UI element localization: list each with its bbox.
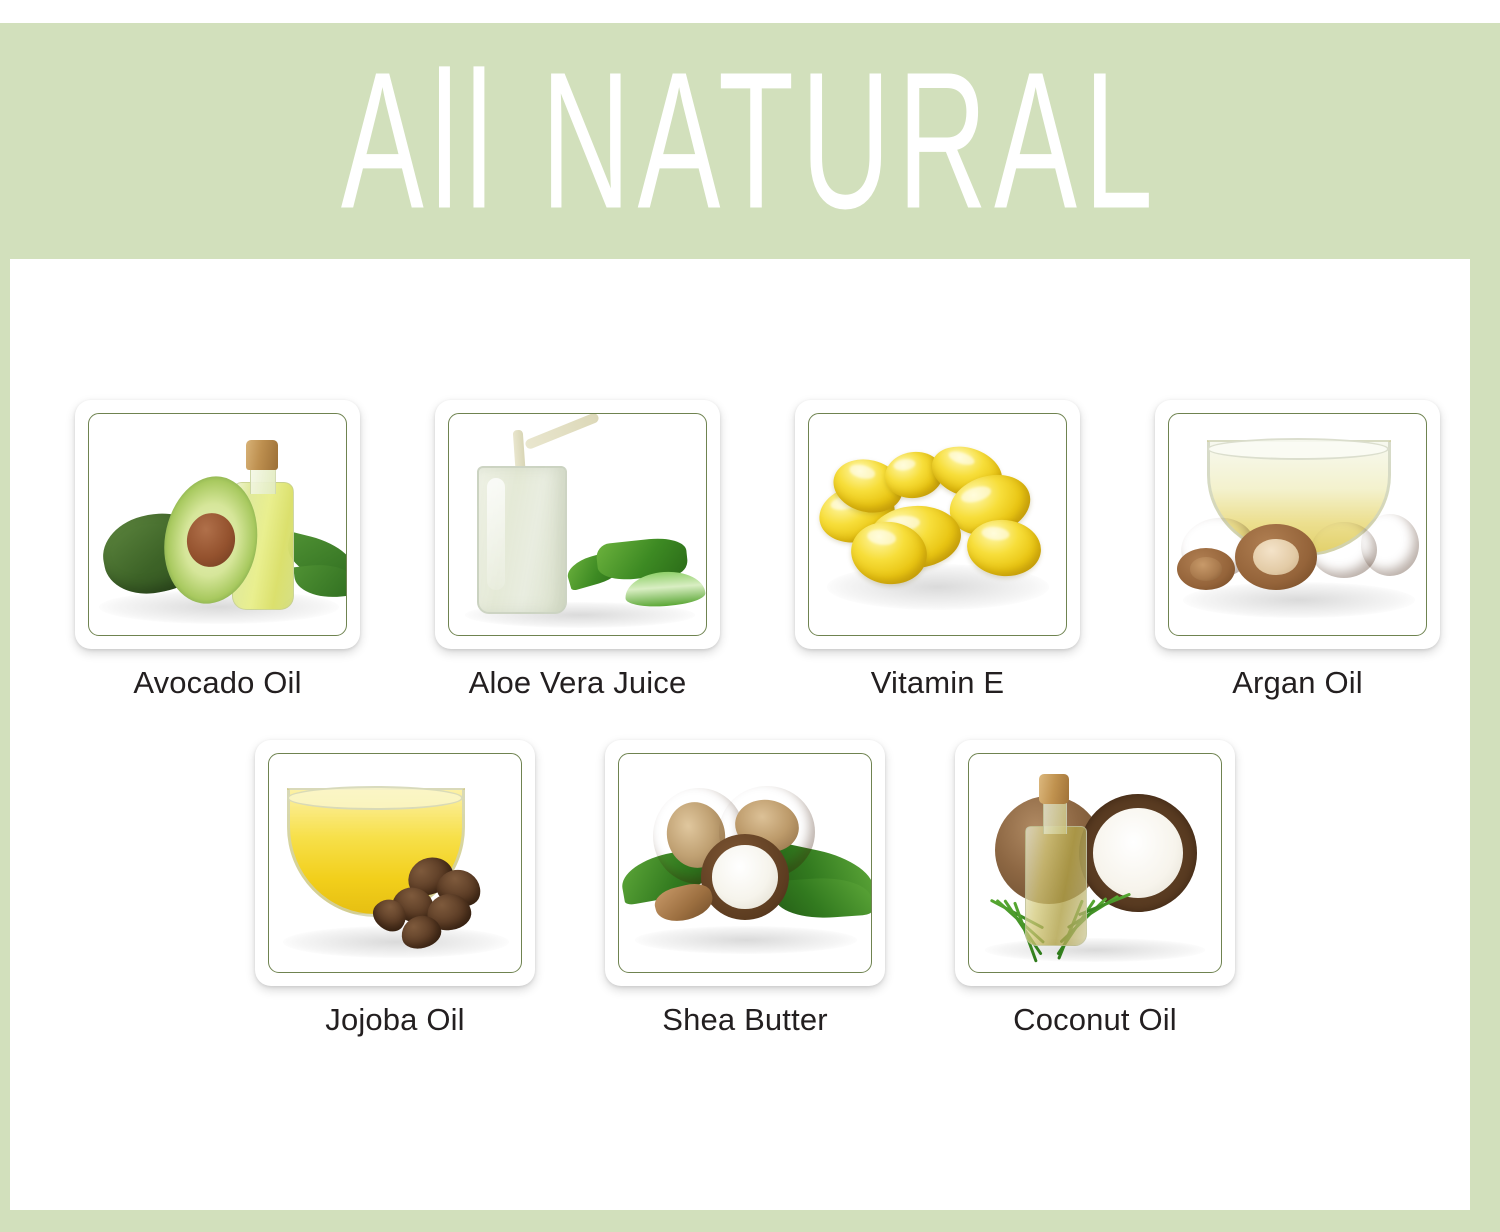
ingredient-label: Jojoba Oil — [325, 1002, 464, 1038]
card-inner-border — [808, 413, 1067, 636]
header-band: All NATURAL — [0, 23, 1500, 259]
card-inner-border — [448, 413, 707, 636]
ingredient-card-avocado-oil[interactable]: Avocado Oil — [75, 400, 360, 701]
page-title: All NATURAL — [0, 60, 1500, 221]
argan-oil-illustration — [1169, 414, 1426, 635]
poster-page: All NATURAL — [0, 0, 1500, 1232]
page-title-text: All NATURAL — [341, 47, 1160, 234]
ingredient-label: Aloe Vera Juice — [469, 665, 687, 701]
card-frame — [795, 400, 1080, 649]
frame-border-bottom — [0, 1210, 1500, 1232]
jojoba-oil-illustration — [269, 754, 521, 972]
ingredient-card-shea-butter[interactable]: Shea Butter — [605, 740, 885, 1038]
card-frame — [75, 400, 360, 649]
ingredient-card-argan-oil[interactable]: Argan Oil — [1155, 400, 1440, 701]
ingredient-card-aloe-vera-juice[interactable]: Aloe Vera Juice — [435, 400, 720, 701]
ingredient-row-1: Avocado Oil — [75, 400, 1440, 701]
card-frame — [1155, 400, 1440, 649]
ingredient-label: Avocado Oil — [133, 665, 301, 701]
card-inner-border — [268, 753, 522, 973]
card-frame — [255, 740, 535, 986]
card-frame — [605, 740, 885, 986]
ingredient-label: Shea Butter — [662, 1002, 827, 1038]
ingredient-label: Vitamin E — [871, 665, 1005, 701]
ingredient-card-coconut-oil[interactable]: Coconut Oil — [955, 740, 1235, 1038]
card-inner-border — [618, 753, 872, 973]
ingredient-label: Coconut Oil — [1013, 1002, 1177, 1038]
card-inner-border — [1168, 413, 1427, 636]
card-inner-border — [88, 413, 347, 636]
card-inner-border — [968, 753, 1222, 973]
ingredient-row-2: Jojoba Oil — [255, 740, 1235, 1038]
coconut-oil-illustration — [969, 754, 1221, 972]
card-frame — [955, 740, 1235, 986]
ingredient-card-jojoba-oil[interactable]: Jojoba Oil — [255, 740, 535, 1038]
card-frame — [435, 400, 720, 649]
shea-butter-illustration — [619, 754, 871, 972]
ingredient-card-vitamin-e[interactable]: Vitamin E — [795, 400, 1080, 701]
avocado-oil-illustration — [89, 414, 346, 635]
ingredient-label: Argan Oil — [1232, 665, 1363, 701]
aloe-vera-juice-illustration — [449, 414, 706, 635]
vitamin-e-illustration — [809, 414, 1066, 635]
ingredients-panel: Avocado Oil — [10, 259, 1470, 1210]
